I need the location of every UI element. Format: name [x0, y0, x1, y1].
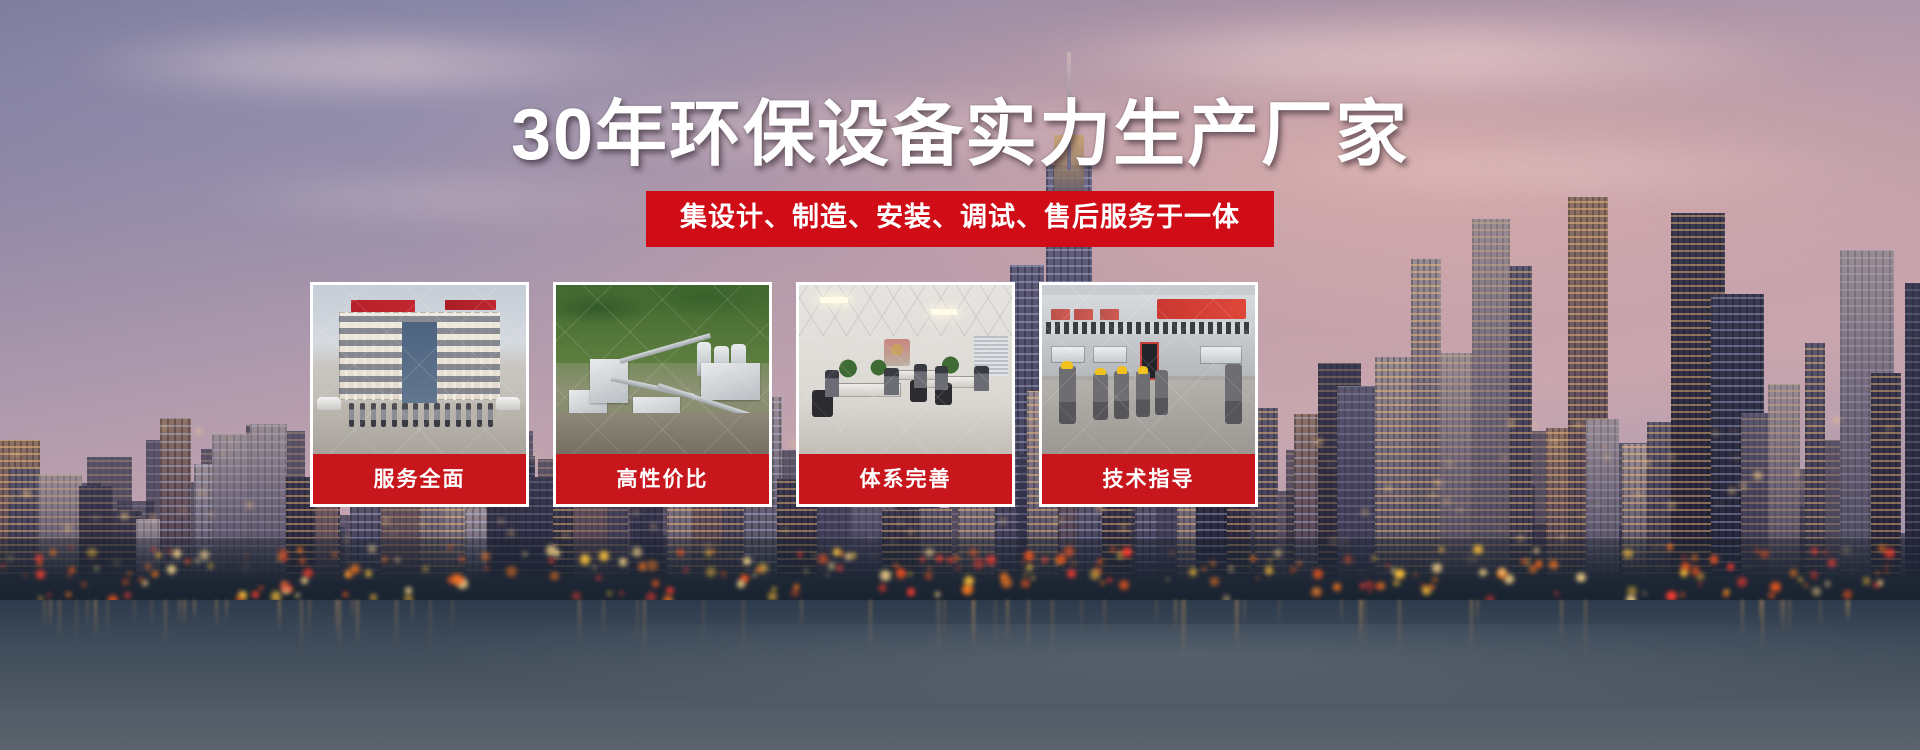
tree-light	[1680, 569, 1688, 577]
tree-light	[1824, 550, 1827, 553]
tree-light	[1428, 584, 1435, 591]
tree-light	[1256, 577, 1259, 580]
tree-light	[481, 552, 490, 561]
card-photo-office-building	[310, 282, 529, 454]
city-light	[634, 511, 638, 515]
water-reflection	[75, 600, 78, 646]
city-light	[1635, 491, 1640, 496]
city-light	[1316, 439, 1322, 445]
city-light	[784, 528, 787, 531]
water-reflection	[225, 600, 228, 622]
tree-light	[35, 554, 43, 562]
tree-light	[1228, 566, 1234, 572]
city-light	[1458, 509, 1461, 512]
tree-light	[1737, 577, 1747, 587]
tree-light	[151, 547, 157, 553]
tree-light	[1698, 582, 1702, 586]
tree-light	[200, 550, 210, 560]
tree-light	[550, 572, 559, 581]
tree-light	[1873, 583, 1878, 588]
tree-light	[964, 576, 974, 586]
water-reflection	[164, 600, 167, 647]
city-light	[1582, 515, 1585, 518]
tree-light	[122, 579, 129, 586]
tree-light	[300, 558, 305, 563]
tree-light	[185, 559, 190, 564]
tree-light	[1107, 578, 1111, 582]
water-reflection	[1155, 600, 1158, 630]
tree-light	[804, 569, 808, 573]
water-reflection	[451, 600, 454, 636]
city-light	[227, 436, 229, 438]
tree-light	[1360, 583, 1365, 588]
tree-light	[1119, 580, 1129, 590]
water-reflection	[429, 600, 432, 653]
tree-light	[1170, 551, 1173, 554]
tree-light	[506, 566, 517, 577]
tree-light	[836, 565, 843, 572]
tree-light	[1878, 545, 1885, 552]
tree-light	[879, 584, 886, 591]
tree-light	[1667, 544, 1673, 550]
water-reflection	[1235, 600, 1238, 644]
tree-light	[277, 557, 282, 562]
water-reflection	[133, 600, 136, 628]
subtitle-bar-wrap: 集设计、制造、安装、调试、售后服务于一体	[0, 191, 1920, 247]
tree-light	[523, 552, 527, 556]
tree-light	[1097, 558, 1104, 565]
tree-light	[1884, 548, 1894, 558]
tree-light	[907, 588, 915, 596]
city-light	[1398, 498, 1401, 501]
tree-light	[208, 563, 214, 569]
tree-light	[152, 571, 158, 577]
water-reflection	[1741, 600, 1744, 639]
tree-light	[1274, 549, 1282, 557]
tree-light	[365, 570, 372, 577]
water-reflection	[215, 600, 218, 630]
tree-light	[87, 548, 96, 557]
tree-light	[81, 582, 87, 588]
tree-light	[1876, 571, 1880, 575]
city-light	[34, 430, 36, 432]
tree-light	[580, 554, 591, 565]
tree-light	[36, 570, 45, 579]
tree-light	[303, 568, 313, 578]
tree-light	[127, 571, 132, 576]
tree-light	[167, 549, 172, 554]
tree-light	[826, 573, 829, 576]
city-light	[1576, 422, 1581, 427]
tree-light	[252, 591, 260, 599]
city-light	[1755, 472, 1762, 479]
water-reflection	[1340, 600, 1343, 627]
tree-light	[167, 565, 176, 574]
tree-light	[24, 574, 27, 577]
tree-light	[986, 555, 996, 565]
tree-light	[395, 558, 399, 562]
city-light	[1502, 456, 1506, 460]
city-light	[508, 530, 514, 536]
tree-light	[840, 552, 844, 556]
water-reflection	[300, 600, 303, 656]
tree-light	[1825, 581, 1831, 587]
tree-light	[37, 561, 42, 566]
water-reflection	[1788, 600, 1791, 635]
city-light	[563, 533, 568, 538]
tree-light	[1473, 545, 1483, 555]
city-light	[1733, 429, 1735, 431]
tree-light	[1024, 551, 1034, 561]
water-reflection	[1476, 600, 1479, 626]
tree-light	[50, 549, 56, 555]
tree-light	[753, 573, 756, 576]
city-light	[1563, 482, 1566, 485]
city-light	[1120, 524, 1127, 531]
water-reflection	[193, 600, 196, 621]
tree-light	[896, 569, 906, 579]
tree-light	[1811, 547, 1819, 555]
tree-light	[1623, 549, 1633, 559]
city-light	[1329, 463, 1332, 466]
tree-light	[1042, 557, 1048, 563]
tree-light	[1090, 569, 1100, 579]
company-sign	[351, 300, 415, 312]
card-photo-industrial-plant	[553, 282, 772, 454]
water-reflection	[578, 600, 581, 645]
tree-light	[1682, 555, 1685, 558]
city-light	[1795, 471, 1799, 475]
tree-light	[928, 567, 932, 571]
water-reflection	[994, 600, 997, 650]
water-reflection	[150, 600, 153, 634]
water-reflection	[702, 600, 705, 647]
water-reflection	[178, 600, 181, 623]
tree-light	[596, 576, 601, 581]
tree-light	[705, 550, 711, 556]
tree-light	[448, 545, 451, 548]
tree-light	[1863, 577, 1871, 585]
hero-banner: 30年环保设备实力生产厂家 集设计、制造、安装、调试、售后服务于一体	[0, 0, 1920, 750]
tree-light	[68, 574, 72, 578]
tree-light	[1414, 573, 1417, 576]
tree-light	[1790, 569, 1797, 576]
tree-light	[798, 552, 802, 556]
tree-light	[124, 592, 132, 600]
tree-light	[677, 549, 684, 556]
tree-light	[1031, 576, 1035, 580]
tree-light	[818, 554, 828, 564]
tree-light	[1202, 567, 1206, 571]
tree-light	[1100, 581, 1105, 586]
tree-light	[954, 555, 959, 560]
water-reflection	[943, 600, 946, 643]
city-light	[23, 490, 30, 497]
city-light	[1886, 426, 1891, 431]
tree-light	[423, 566, 429, 572]
tree-light	[69, 567, 75, 573]
feature-card[interactable]: 高性价比	[553, 282, 772, 507]
tree-light	[405, 587, 412, 594]
tree-light	[794, 584, 800, 590]
city-light	[1430, 492, 1436, 498]
city-light	[1551, 439, 1557, 445]
tree-light	[1725, 589, 1729, 593]
tree-light	[1333, 583, 1341, 591]
tree-light	[297, 547, 303, 553]
tree-light	[947, 557, 953, 563]
water-reflection	[1584, 600, 1587, 659]
tree-light	[1394, 569, 1404, 579]
tree-light	[1576, 573, 1585, 582]
tree-light	[647, 560, 658, 571]
tree-light	[47, 593, 51, 597]
tree-light	[1885, 564, 1888, 567]
tree-light	[1021, 561, 1024, 564]
city-light	[1713, 431, 1718, 436]
tree-light	[1024, 573, 1027, 576]
tree-light	[935, 592, 940, 597]
city-light	[1717, 502, 1720, 505]
tree-light	[1432, 563, 1442, 573]
tree-light	[619, 558, 627, 566]
page-title: 30年环保设备实力生产厂家	[0, 96, 1920, 175]
tree-light	[382, 557, 387, 562]
water-reflection	[1051, 600, 1054, 657]
water-reflection	[643, 600, 646, 655]
water-reflection	[356, 600, 359, 647]
tree-light	[828, 562, 836, 570]
water-reflection	[338, 600, 341, 652]
feature-card-list: 服务全面 高性价比	[310, 282, 1258, 507]
tree-light	[343, 592, 348, 597]
water-reflection	[411, 600, 414, 627]
tree-light	[1297, 561, 1302, 566]
tree-light	[756, 567, 762, 573]
tree-light	[1798, 577, 1803, 582]
water-reflection	[1278, 600, 1281, 628]
city-light	[1519, 501, 1521, 503]
tree-light	[632, 547, 642, 557]
tree-light	[345, 572, 350, 577]
water-reflection	[335, 600, 338, 637]
city-light	[909, 530, 913, 534]
tree-light	[1210, 561, 1215, 566]
tree-light	[1439, 547, 1444, 552]
city-light	[1800, 483, 1804, 487]
tree-light	[772, 587, 776, 591]
city-light	[94, 516, 98, 520]
tree-light	[721, 571, 726, 576]
city-light	[247, 502, 252, 507]
feature-card[interactable]: 服务全面	[310, 282, 529, 507]
tree-light	[1810, 571, 1818, 579]
tree-light	[619, 591, 624, 596]
tree-light	[1768, 592, 1775, 599]
city-light	[1532, 423, 1537, 428]
city-light	[1883, 435, 1886, 438]
water-reflection	[1761, 600, 1764, 650]
city-light	[1899, 416, 1902, 419]
tree-light	[791, 589, 799, 597]
water-reflection	[1027, 600, 1030, 655]
city-light	[199, 490, 205, 496]
tree-light	[925, 573, 931, 579]
water-reflection	[800, 600, 803, 631]
water-reflection	[1359, 600, 1362, 648]
tree-light	[554, 550, 561, 557]
water-reflection	[1006, 600, 1009, 642]
tree-light	[282, 556, 287, 561]
city-light	[221, 452, 224, 455]
tree-light	[485, 566, 489, 570]
card-caption: 体系完善	[796, 454, 1015, 507]
tree-light	[1812, 587, 1821, 596]
tree-light	[1386, 564, 1389, 567]
tree-light	[607, 591, 612, 596]
water-reflection	[1103, 600, 1106, 635]
tree-light	[973, 558, 984, 569]
tree-light	[1393, 580, 1400, 587]
river-water	[0, 600, 1920, 750]
water-reflection	[86, 600, 89, 632]
water-reflection	[972, 600, 975, 648]
water-reflection	[1819, 600, 1822, 632]
tree-light	[880, 570, 891, 581]
tree-light	[920, 557, 925, 562]
tree-light	[350, 564, 361, 575]
tree-light	[813, 554, 817, 558]
card-caption: 高性价比	[553, 454, 772, 507]
water-reflection	[602, 600, 605, 637]
water-reflection	[636, 600, 639, 644]
tree-light	[94, 566, 99, 571]
tree-light	[1885, 570, 1888, 573]
tree-light	[549, 558, 554, 563]
city-light	[1834, 417, 1840, 423]
tree-light	[1056, 554, 1066, 564]
tree-light	[156, 552, 161, 557]
tree-light	[280, 581, 290, 591]
water-reflection	[1782, 600, 1785, 636]
water-reflection	[1174, 600, 1177, 632]
water-reflection	[1847, 600, 1850, 623]
tree-light	[1210, 577, 1218, 585]
tree-light	[1, 564, 5, 568]
city-light	[1231, 507, 1233, 509]
tree-light	[451, 574, 462, 585]
city-light	[1740, 483, 1746, 489]
tree-light	[1549, 560, 1558, 569]
tree-light	[599, 551, 609, 561]
tree-light	[1521, 559, 1526, 564]
city-light	[1729, 488, 1735, 494]
card-photo-factory-workers	[1039, 282, 1258, 454]
tree-light	[1535, 562, 1541, 568]
tree-light	[1770, 582, 1781, 593]
tree-light	[969, 548, 978, 557]
tree-light	[936, 555, 943, 562]
city-light	[1435, 480, 1441, 486]
city-light	[1386, 485, 1391, 490]
tree-light	[1067, 569, 1076, 578]
city-light	[392, 532, 395, 535]
tree-light	[652, 580, 659, 587]
tree-light	[1479, 569, 1486, 576]
tree-light	[1727, 564, 1733, 570]
tree-light	[925, 548, 934, 557]
tree-light	[332, 552, 336, 556]
city-light	[65, 525, 71, 531]
tree-light	[908, 572, 912, 576]
feature-card[interactable]: 技术指导	[1039, 282, 1258, 507]
tree-light	[69, 545, 73, 549]
tree-light	[245, 555, 248, 558]
city-light	[196, 429, 201, 434]
city-light	[1669, 454, 1675, 460]
city-light	[181, 509, 184, 512]
tree-light	[1026, 564, 1033, 571]
tree-light	[1710, 555, 1718, 563]
cloud	[60, 40, 680, 88]
tree-light	[1843, 590, 1852, 599]
city-light	[1509, 420, 1514, 425]
tree-light	[1643, 592, 1646, 595]
water-reflection	[58, 600, 61, 641]
tree-light	[1189, 568, 1197, 576]
city-light	[1633, 466, 1636, 469]
tree-light	[1828, 559, 1836, 567]
tree-light	[1691, 554, 1698, 561]
tree-light	[638, 562, 647, 571]
tree-light	[1290, 566, 1296, 572]
tree-light	[572, 592, 581, 601]
phone-sign	[445, 300, 496, 310]
water-reflection	[1398, 600, 1401, 653]
tree-light	[706, 567, 715, 576]
water-reflection	[183, 600, 186, 627]
tree-light	[1268, 559, 1272, 563]
tree-light	[66, 592, 70, 596]
tree-light	[743, 557, 750, 564]
tree-light	[737, 580, 745, 588]
tree-light	[1064, 546, 1074, 556]
tree-light	[1680, 592, 1685, 597]
city-light	[150, 515, 155, 520]
water-reflection	[1181, 600, 1184, 659]
tree-light	[1265, 566, 1274, 575]
water-reflection	[937, 600, 940, 658]
city-light	[1634, 479, 1638, 483]
city-light	[1403, 481, 1406, 484]
feature-card[interactable]: 体系完善	[796, 282, 1015, 507]
water-sheen	[0, 624, 1920, 704]
tree-light	[1432, 577, 1437, 582]
city-light	[231, 443, 234, 446]
tree-light	[1365, 581, 1373, 589]
water-reflection	[869, 600, 872, 654]
water-reflection	[278, 600, 281, 633]
subtitle-bar: 集设计、制造、安装、调试、售后服务于一体	[646, 191, 1274, 247]
tree-light	[593, 566, 596, 569]
cloud	[1020, 26, 1840, 86]
tree-light	[301, 577, 308, 584]
card-photo-office-interior	[796, 282, 1015, 454]
wall-banner-text	[1157, 299, 1246, 319]
tree-light	[1534, 548, 1539, 553]
tree-light	[1804, 583, 1808, 587]
tree-light	[259, 586, 263, 590]
